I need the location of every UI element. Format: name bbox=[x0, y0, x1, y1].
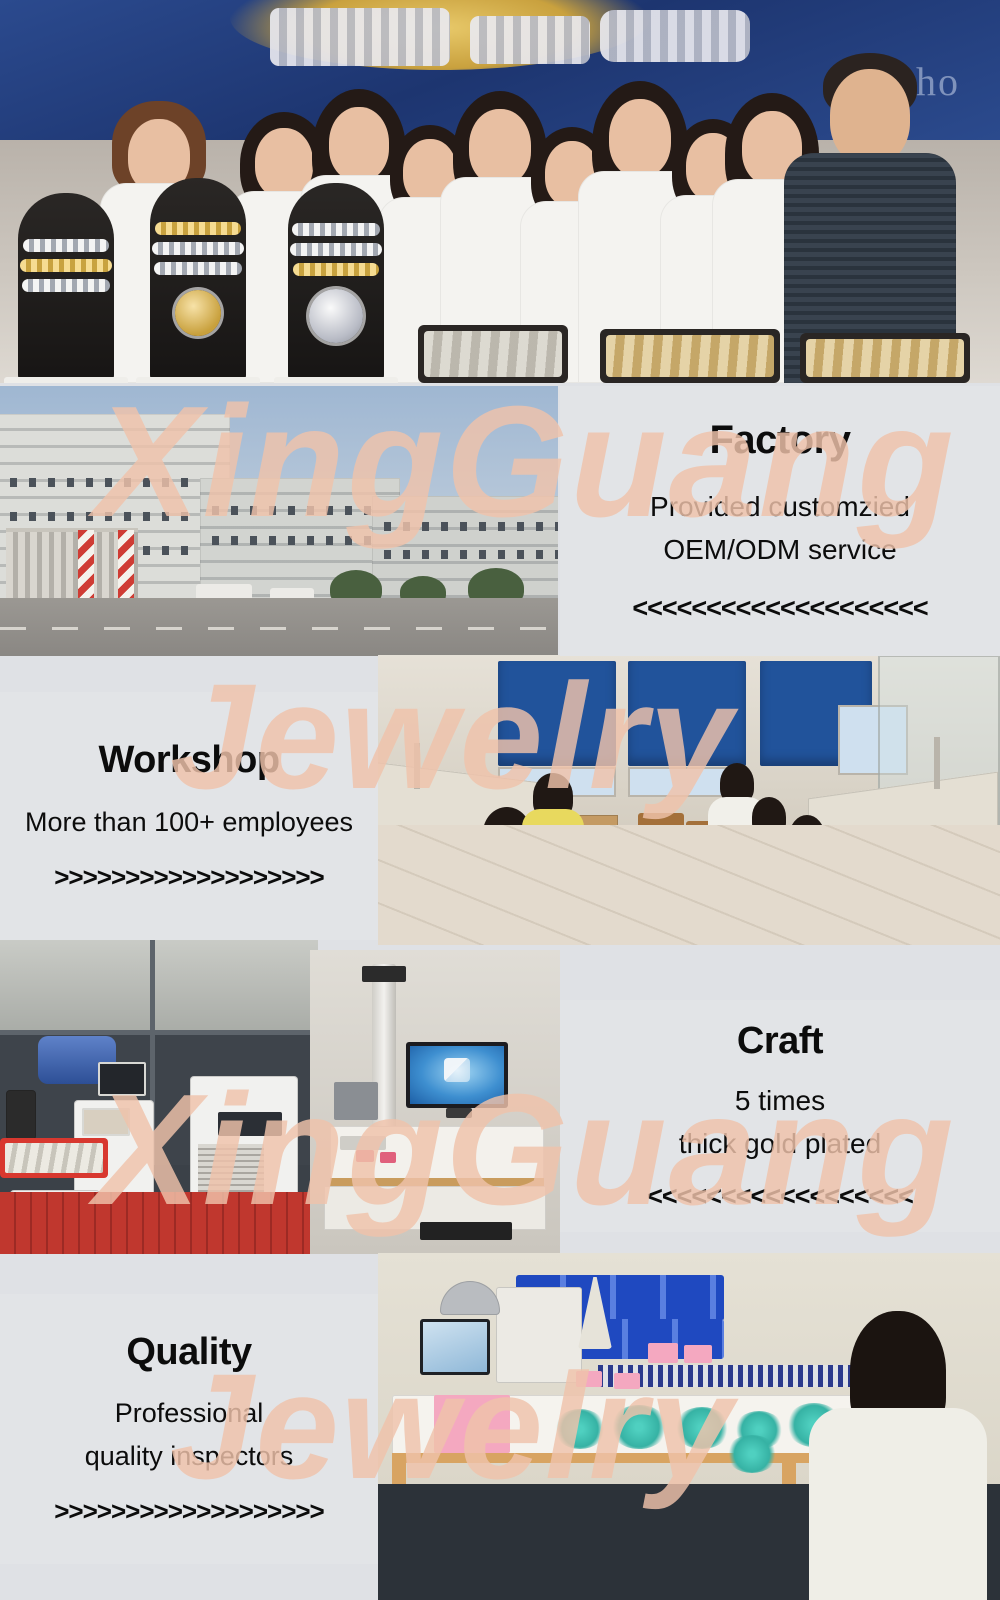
panel-factory-line1: Provided customzied bbox=[650, 485, 910, 528]
pink-box bbox=[648, 1343, 678, 1363]
tray-contents bbox=[606, 335, 774, 377]
window-row bbox=[212, 536, 388, 545]
cuban-chain bbox=[292, 223, 380, 236]
tray-contents bbox=[5, 1143, 103, 1173]
table-edge bbox=[330, 1178, 544, 1186]
control-tablet bbox=[420, 1319, 490, 1375]
body bbox=[809, 1408, 987, 1600]
window-row bbox=[10, 478, 220, 487]
wax-tree bbox=[554, 1409, 606, 1449]
pink-box bbox=[614, 1373, 640, 1389]
pink-box-stack bbox=[434, 1395, 510, 1453]
tray-contents bbox=[424, 331, 562, 377]
laser-welder-photo bbox=[0, 940, 318, 1254]
desktop-wallpaper bbox=[410, 1046, 504, 1104]
windows-logo-icon bbox=[444, 1058, 470, 1082]
face bbox=[830, 69, 910, 165]
panel-quality-line2: quality inspectors bbox=[85, 1435, 294, 1478]
laser-head bbox=[6, 1090, 36, 1140]
panel-workshop-line1: More than 100+ employees bbox=[25, 802, 353, 843]
pink-box bbox=[576, 1371, 602, 1387]
panel-workshop-title: Workshop bbox=[98, 739, 279, 782]
panel-quality-title: Quality bbox=[126, 1331, 251, 1374]
window-blind bbox=[498, 661, 616, 766]
engraver-photo bbox=[310, 950, 560, 1254]
cuban-chain bbox=[154, 262, 242, 275]
quality-bench-photo bbox=[378, 1253, 1000, 1600]
panel-craft-arrows: <<<<<<<<<<<<<<<<<< bbox=[647, 1181, 913, 1212]
factory-building-photo bbox=[0, 386, 558, 656]
warning-stripe bbox=[78, 530, 94, 602]
team-photo: Wuzho bbox=[0, 0, 1000, 383]
work-plate bbox=[340, 1136, 386, 1150]
panel-workshop: Workshop More than 100+ employees >>>>>>… bbox=[0, 692, 378, 940]
tray-contents bbox=[806, 339, 964, 377]
cuban-chain bbox=[293, 263, 379, 276]
window-blind bbox=[628, 661, 746, 766]
window-row bbox=[384, 550, 558, 559]
part-tray bbox=[380, 1152, 396, 1163]
panel-craft-title: Craft bbox=[737, 1020, 823, 1063]
banner-chain-graphic bbox=[600, 10, 750, 62]
warning-stripe bbox=[118, 530, 134, 602]
panel-quality-line1: Professional bbox=[115, 1392, 264, 1435]
jewelry-tray bbox=[800, 333, 970, 383]
laser-head bbox=[334, 1082, 378, 1120]
pendant bbox=[175, 290, 221, 336]
monitor-stand bbox=[446, 1108, 472, 1118]
pink-box bbox=[684, 1345, 712, 1363]
window-row bbox=[212, 506, 388, 515]
window-row bbox=[384, 522, 558, 531]
monitor bbox=[406, 1042, 508, 1108]
window-mullion bbox=[150, 940, 155, 1035]
panel-factory-line2: OEM/ODM service bbox=[663, 528, 896, 571]
panel-quality: Quality Professional quality inspectors … bbox=[0, 1294, 378, 1564]
bench-lamp bbox=[934, 737, 940, 789]
panel-factory-arrows: <<<<<<<<<<<<<<<<<<<< bbox=[632, 593, 927, 624]
window-row bbox=[10, 512, 220, 521]
monitor bbox=[98, 1062, 146, 1096]
panel-workshop-arrows: >>>>>>>>>>>>>>>>>>> bbox=[54, 862, 324, 893]
necklace-display-bust bbox=[150, 178, 246, 383]
pendant-medallion bbox=[309, 289, 363, 343]
banner-chain-graphic bbox=[470, 16, 590, 64]
tile-floor bbox=[378, 825, 1000, 945]
worker-inspector bbox=[808, 1311, 988, 1600]
product-detail-banner: Wuzho bbox=[0, 0, 1000, 1600]
anti-fatigue-mat bbox=[0, 1192, 318, 1254]
panel-factory-title: Factory bbox=[710, 418, 851, 463]
cuban-chain bbox=[22, 279, 110, 292]
panel-craft-line1: 5 times bbox=[735, 1079, 825, 1122]
part-tray bbox=[356, 1150, 374, 1162]
road-marking bbox=[0, 627, 558, 630]
cuban-chain bbox=[290, 243, 382, 256]
upper-window-area bbox=[0, 940, 318, 1035]
workshop-photo bbox=[378, 655, 1000, 945]
wax-tree bbox=[610, 1405, 668, 1449]
necklace-display-bust bbox=[288, 183, 384, 383]
panel-craft: Craft 5 times thick gold plated <<<<<<<<… bbox=[560, 1000, 1000, 1232]
jewelry-tray bbox=[600, 329, 780, 383]
touch-panel bbox=[82, 1108, 130, 1136]
cuban-chain bbox=[20, 259, 112, 272]
wax-tree bbox=[726, 1435, 778, 1473]
panel-quality-arrows: >>>>>>>>>>>>>>>>>>> bbox=[54, 1496, 324, 1527]
bench-lamp bbox=[414, 743, 420, 789]
tablet-screen bbox=[423, 1322, 487, 1372]
casting-machine bbox=[496, 1287, 582, 1383]
jewelry-tray bbox=[0, 1138, 108, 1178]
banner-chain-graphic bbox=[270, 8, 450, 66]
chiller-display bbox=[218, 1112, 282, 1136]
cuban-chain bbox=[152, 242, 244, 255]
panel-craft-line2: thick gold plated bbox=[679, 1122, 881, 1165]
panel-factory: Factory Provided customzied OEM/ODM serv… bbox=[560, 386, 1000, 656]
necklace-display-bust bbox=[18, 193, 114, 383]
cuban-chain bbox=[155, 222, 241, 235]
wax-tree bbox=[674, 1407, 730, 1449]
keyboard bbox=[420, 1222, 512, 1240]
cuban-chain bbox=[23, 239, 109, 252]
column-top bbox=[362, 966, 406, 982]
jewelry-tray bbox=[418, 325, 568, 383]
